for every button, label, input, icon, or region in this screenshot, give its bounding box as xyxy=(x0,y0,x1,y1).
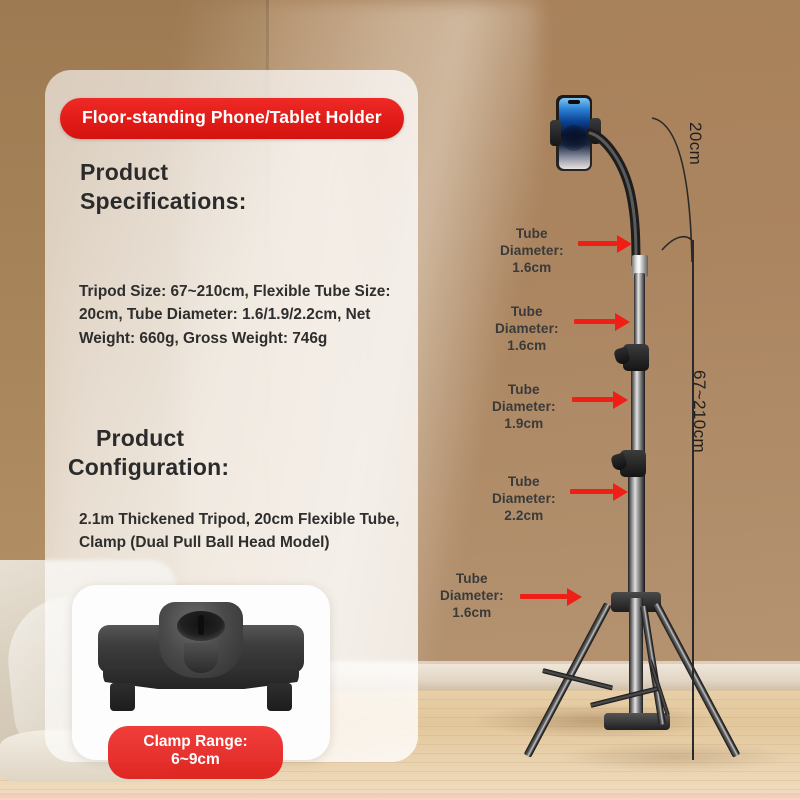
callout-label-value: 1.9cm xyxy=(492,415,556,432)
configuration-heading: Product Configuration: xyxy=(68,424,229,483)
dimension-label-tripod-height: 67~210cm xyxy=(689,370,709,453)
tripod-shadow-secondary xyxy=(560,742,790,772)
callout-label-line2: Diameter: xyxy=(495,320,559,337)
arrow-head xyxy=(567,588,582,606)
configuration-heading-line2: Configuration: xyxy=(68,453,229,482)
specifications-text: Tripod Size: 67~210cm, Flexible Tube Siz… xyxy=(79,280,409,350)
arrow-shaft xyxy=(578,241,617,246)
callout-label-line1: Tube xyxy=(440,570,504,587)
callout-label-line1: Tube xyxy=(500,225,564,242)
configuration-heading-line1: Product xyxy=(68,424,229,453)
arrow-shaft xyxy=(574,319,615,324)
arrow-shaft xyxy=(572,397,613,402)
callout-label-line1: Tube xyxy=(492,473,556,490)
clamp-range-badge: Clamp Range: 6~9cm xyxy=(108,726,283,779)
tripod-height-dimension-line xyxy=(692,240,694,760)
arrow-shaft xyxy=(520,594,567,599)
floor-edge-strip xyxy=(0,793,800,800)
callout-tube-diameter-5: Tube Diameter: 1.6cm xyxy=(440,570,504,621)
arrow-head xyxy=(613,391,628,409)
callout-label-value: 1.6cm xyxy=(495,337,559,354)
arrow-icon-4 xyxy=(570,487,628,496)
title-badge: Floor-standing Phone/Tablet Holder xyxy=(60,98,404,139)
dimension-label-flexible-tube: 20cm xyxy=(685,122,705,165)
arrow-head xyxy=(615,313,630,331)
clamp-foot-left xyxy=(110,683,135,711)
callout-label-line1: Tube xyxy=(495,303,559,320)
flexible-gooseneck-tube xyxy=(560,125,660,275)
callout-tube-diameter-3: Tube Diameter: 1.9cm xyxy=(492,381,556,432)
configuration-text: 2.1m Thickened Tripod, 20cm Flexible Tub… xyxy=(79,508,409,555)
callout-label-line2: Diameter: xyxy=(492,490,556,507)
callout-label-line2: Diameter: xyxy=(492,398,556,415)
callout-tube-diameter-2: Tube Diameter: 1.6cm xyxy=(495,303,559,354)
tripod-shadow xyxy=(470,704,720,738)
specifications-heading: Product Specifications: xyxy=(80,158,247,217)
callout-label-line2: Diameter: xyxy=(500,242,564,259)
arrow-head xyxy=(613,483,628,501)
clamp-range-label: Clamp Range: xyxy=(108,733,283,751)
arrow-icon-5 xyxy=(520,592,582,601)
flip-lock-lower xyxy=(620,450,646,477)
arrow-icon-3 xyxy=(572,395,628,404)
callout-label-value: 1.6cm xyxy=(500,259,564,276)
callout-label-line2: Diameter: xyxy=(440,587,504,604)
phone-notch xyxy=(568,100,580,104)
callout-tube-diameter-1: Tube Diameter: 1.6cm xyxy=(500,225,564,276)
callout-label-value: 2.2cm xyxy=(492,507,556,524)
clamp-socket-slot xyxy=(198,615,204,635)
callout-label-line1: Tube xyxy=(492,381,556,398)
arrow-icon-1 xyxy=(578,239,632,248)
arrow-head xyxy=(617,235,632,253)
flip-lock-upper xyxy=(623,344,649,371)
tripod-height-bracket-top xyxy=(660,232,704,258)
specifications-heading-line2: Specifications: xyxy=(80,187,247,216)
arrow-shaft xyxy=(570,489,613,494)
product-infographic: Tube Diameter: 1.6cm Tube Diameter: 1.6c… xyxy=(0,0,800,800)
clamp-foot-right xyxy=(267,683,292,711)
callout-label-value: 1.6cm xyxy=(440,604,504,621)
clamp-knob-nub xyxy=(184,643,218,673)
callout-tube-diameter-4: Tube Diameter: 2.2cm xyxy=(492,473,556,524)
clamp-range-value: 6~9cm xyxy=(108,751,283,769)
pole-section-lower xyxy=(628,458,645,598)
arrow-icon-2 xyxy=(574,317,630,326)
pole-section-upper xyxy=(634,273,645,355)
specifications-heading-line1: Product xyxy=(80,158,247,187)
